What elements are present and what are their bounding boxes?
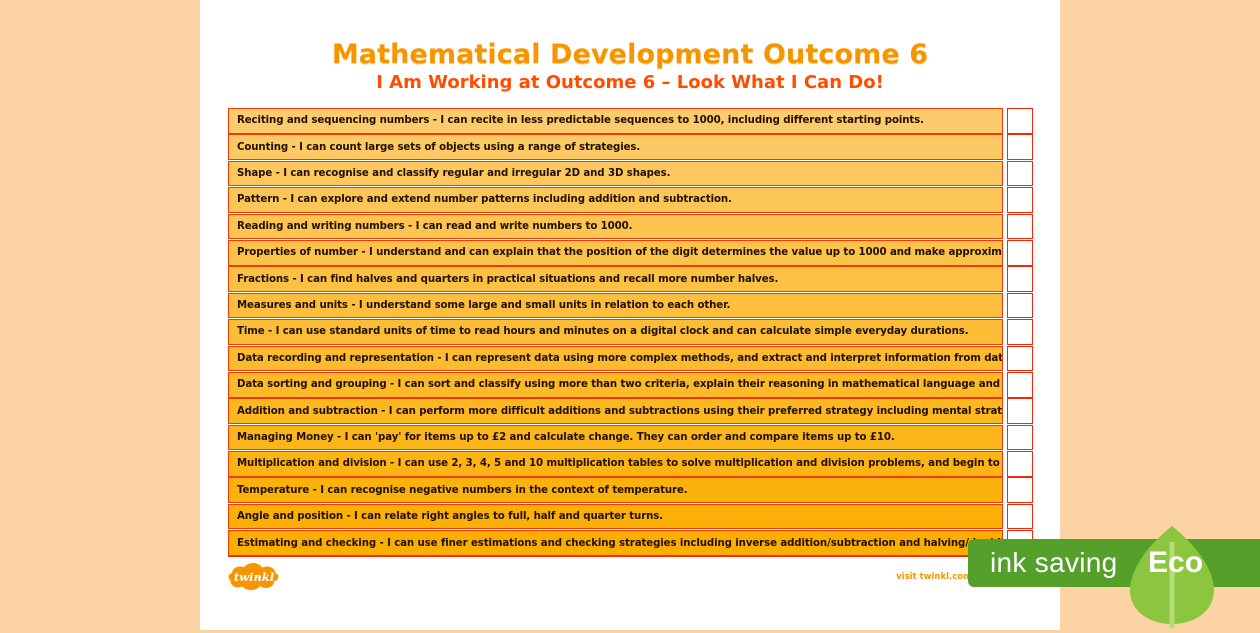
table-row: Estimating and checking - I can use fine… bbox=[228, 530, 1032, 556]
checkbox-cell[interactable] bbox=[1007, 187, 1033, 213]
visit-twinkl-label: visit twinkl.com bbox=[896, 572, 972, 582]
checkbox-cell[interactable] bbox=[1007, 346, 1033, 372]
svg-text:twinkl: twinkl bbox=[234, 570, 275, 584]
checklist-statement: Properties of number - I understand and … bbox=[228, 240, 1003, 266]
checkbox-cell[interactable] bbox=[1007, 451, 1033, 477]
table-row: Shape - I can recognise and classify reg… bbox=[228, 161, 1032, 187]
checkbox-cell[interactable] bbox=[1007, 398, 1033, 424]
checklist-statement: Measures and units - I understand some l… bbox=[228, 293, 1003, 319]
checklist-statement: Shape - I can recognise and classify reg… bbox=[228, 161, 1003, 187]
checkbox-cell[interactable] bbox=[1007, 293, 1033, 319]
table-row: Time - I can use standard units of time … bbox=[228, 319, 1032, 345]
table-row: Angle and position - I can relate right … bbox=[228, 504, 1032, 530]
checkbox-cell[interactable] bbox=[1007, 319, 1033, 345]
checkbox-cell[interactable] bbox=[1007, 266, 1033, 292]
table-row: Properties of number - I understand and … bbox=[228, 240, 1032, 266]
table-row: Data sorting and grouping - I can sort a… bbox=[228, 372, 1032, 398]
twinkl-logo: twinkl bbox=[228, 562, 280, 592]
table-row: Measures and units - I understand some l… bbox=[228, 293, 1032, 319]
table-row: Reciting and sequencing numbers - I can … bbox=[228, 108, 1032, 134]
checklist-statement: Data recording and representation - I ca… bbox=[228, 346, 1003, 372]
table-row: Fractions - I can find halves and quarte… bbox=[228, 266, 1032, 292]
checkbox-cell[interactable] bbox=[1007, 240, 1033, 266]
table-row: Temperature - I can recognise negative n… bbox=[228, 477, 1032, 503]
checklist-statement: Multiplication and division - I can use … bbox=[228, 451, 1003, 477]
checkbox-cell[interactable] bbox=[1007, 161, 1033, 187]
eco-label: Eco bbox=[1148, 548, 1203, 578]
checklist-statement: Pattern - I can explore and extend numbe… bbox=[228, 187, 1003, 213]
checklist-statement: Data sorting and grouping - I can sort a… bbox=[228, 372, 1003, 398]
checklist-statement: Angle and position - I can relate right … bbox=[228, 504, 1003, 530]
checklist-statement: Time - I can use standard units of time … bbox=[228, 319, 1003, 345]
ink-saving-label: ink saving bbox=[990, 549, 1118, 577]
table-row: Multiplication and division - I can use … bbox=[228, 451, 1032, 477]
table-row: Counting - I can count large sets of obj… bbox=[228, 134, 1032, 160]
footer-divider bbox=[228, 556, 1032, 557]
checkbox-cell[interactable] bbox=[1007, 477, 1033, 503]
table-row: Reading and writing numbers - I can read… bbox=[228, 214, 1032, 240]
checkbox-cell[interactable] bbox=[1007, 134, 1033, 160]
checklist-statement: Reciting and sequencing numbers - I can … bbox=[228, 108, 1003, 134]
page-subtitle: I Am Working at Outcome 6 – Look What I … bbox=[228, 73, 1032, 94]
checkbox-cell[interactable] bbox=[1007, 372, 1033, 398]
checkbox-cell[interactable] bbox=[1007, 214, 1033, 240]
checkbox-cell[interactable] bbox=[1007, 108, 1033, 134]
title-block: Mathematical Development Outcome 6 I Am … bbox=[228, 0, 1032, 94]
table-row: Pattern - I can explore and extend numbe… bbox=[228, 187, 1032, 213]
checklist-statement: Addition and subtraction - I can perform… bbox=[228, 398, 1003, 424]
table-row: Addition and subtraction - I can perform… bbox=[228, 398, 1032, 424]
checklist-table: Reciting and sequencing numbers - I can … bbox=[228, 108, 1032, 557]
printable-page: Mathematical Development Outcome 6 I Am … bbox=[200, 0, 1060, 630]
footer: twinkl visit twinkl.com bbox=[228, 562, 1032, 604]
ink-saving-eco-badge: ink saving Eco bbox=[968, 530, 1260, 592]
checkbox-cell[interactable] bbox=[1007, 425, 1033, 451]
checkbox-cell[interactable] bbox=[1007, 504, 1033, 530]
table-row: Managing Money - I can 'pay' for items u… bbox=[228, 425, 1032, 451]
page-title: Mathematical Development Outcome 6 bbox=[228, 40, 1032, 70]
checklist-statement: Fractions - I can find halves and quarte… bbox=[228, 266, 1003, 292]
checklist-statement: Managing Money - I can 'pay' for items u… bbox=[228, 425, 1003, 451]
table-row: Data recording and representation - I ca… bbox=[228, 346, 1032, 372]
checklist-statement: Counting - I can count large sets of obj… bbox=[228, 134, 1003, 160]
checklist-statement: Temperature - I can recognise negative n… bbox=[228, 477, 1003, 503]
checklist-statement: Reading and writing numbers - I can read… bbox=[228, 214, 1003, 240]
checklist-statement: Estimating and checking - I can use fine… bbox=[228, 530, 1003, 556]
